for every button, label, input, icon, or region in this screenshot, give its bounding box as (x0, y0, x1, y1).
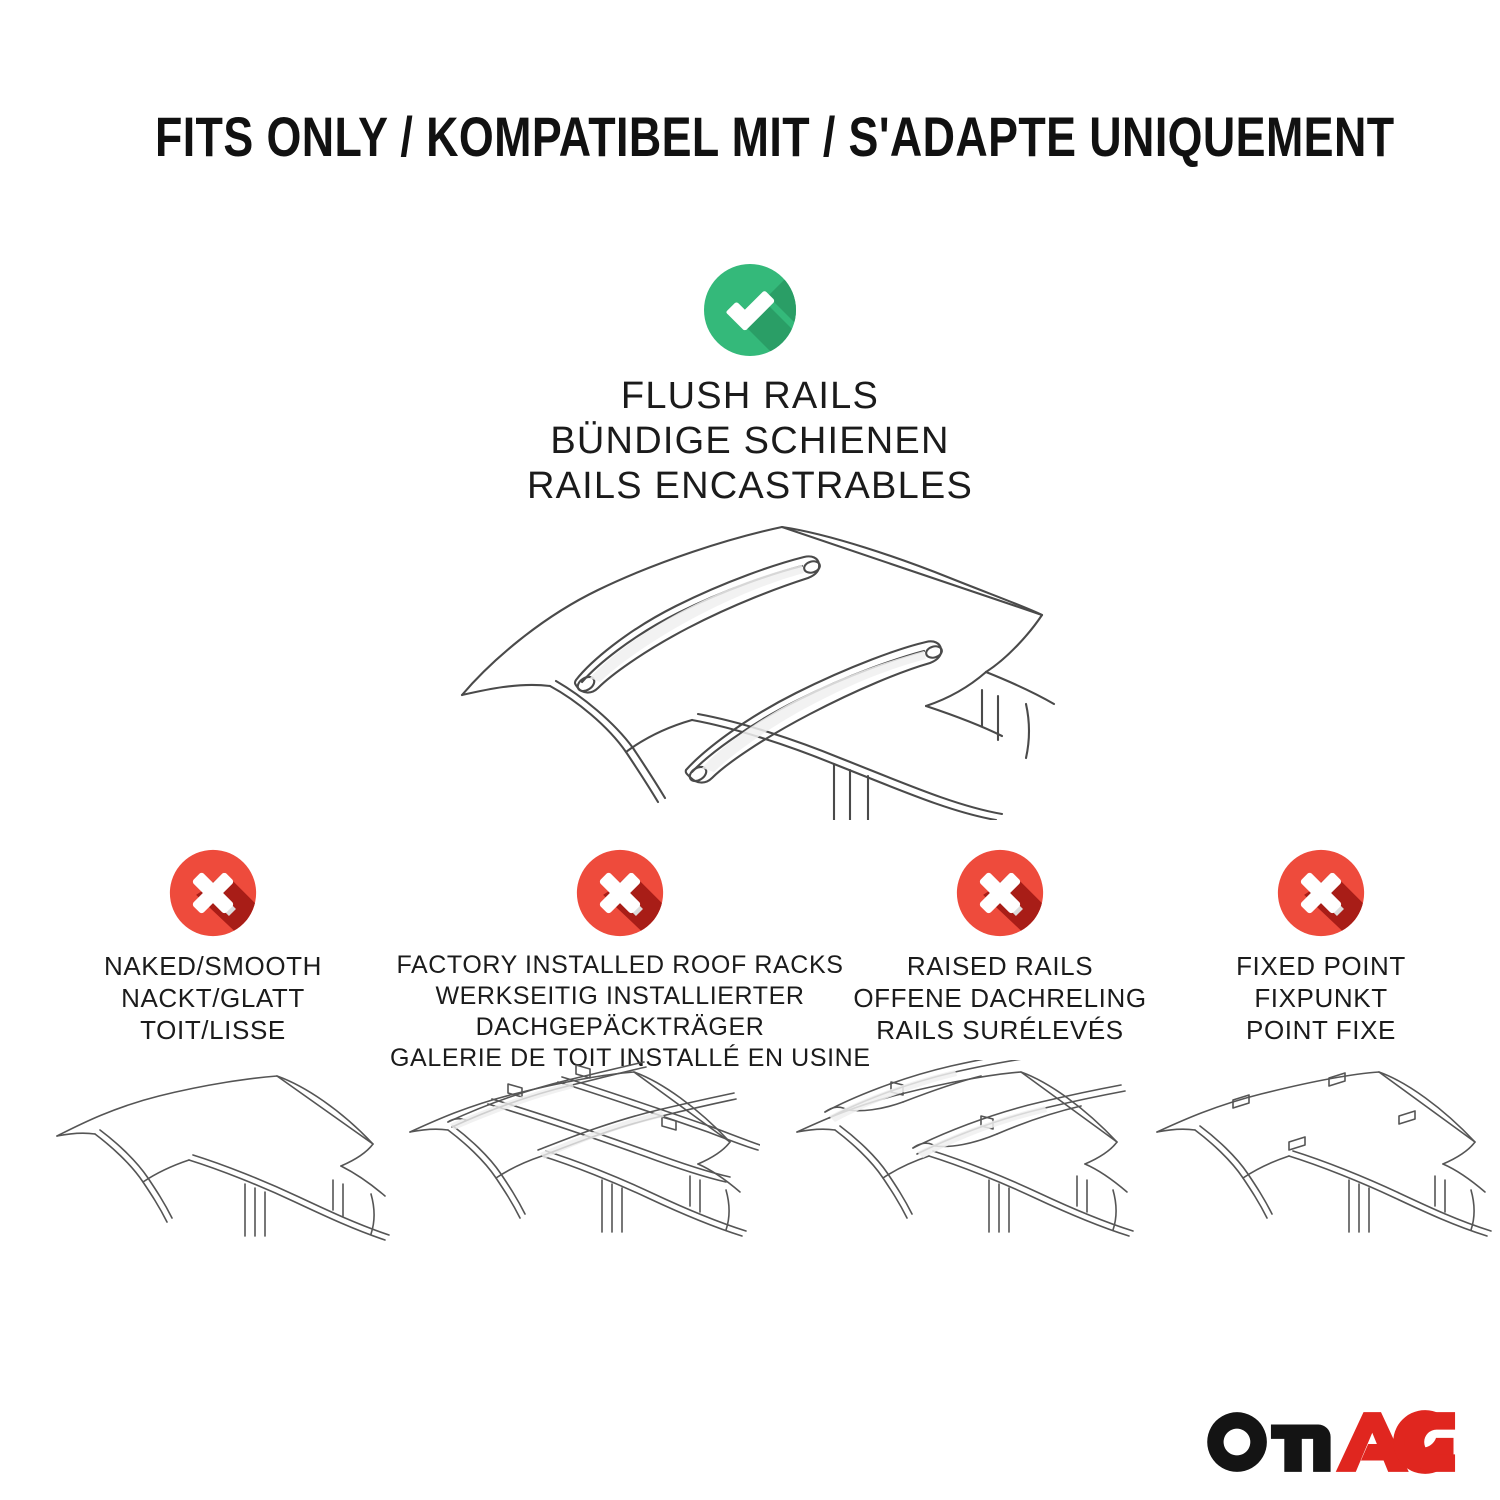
compatible-section: FLUSH RAILS BÜNDIGE SCHIENEN RAILS ENCAS… (0, 262, 1500, 508)
label-en: FACTORY INSTALLED ROOF RACKS (390, 950, 850, 981)
compatible-label-de: BÜNDIGE SCHIENEN (0, 419, 1500, 464)
label-de: OFFENE DACHRELING (838, 982, 1162, 1014)
incompatible-column-naked-smooth: NAKED/SMOOTH NACKT/GLATT TOIT/LISSE (38, 848, 388, 1047)
label-fr: RAILS SURÉLEVÉS (838, 1014, 1162, 1046)
column-labels: FACTORY INSTALLED ROOF RACKS WERKSEITIG … (390, 950, 850, 1074)
incompatible-column-fixed-point: FIXED POINT FIXPUNKT POINT FIXE (1166, 848, 1476, 1047)
car-roof-fixed-point-illustration (1155, 1060, 1500, 1315)
label-en: RAISED RAILS (838, 950, 1162, 982)
incompatible-column-factory-roof-racks: FACTORY INSTALLED ROOF RACKS WERKSEITIG … (390, 848, 850, 1074)
car-roof-raised-rails-illustration (795, 1060, 1147, 1315)
label-de: NACKT/GLATT (38, 982, 388, 1014)
label-fr: POINT FIXE (1166, 1014, 1476, 1046)
car-roof-flush-rails-illustration (430, 490, 1070, 820)
compatible-label-en: FLUSH RAILS (0, 374, 1500, 419)
incompatible-column-raised-rails: RAISED RAILS OFFENE DACHRELING RAILS SUR… (838, 848, 1162, 1047)
column-labels: RAISED RAILS OFFENE DACHRELING RAILS SUR… (838, 950, 1162, 1047)
car-roof-factory-roof-racks-illustration (408, 1060, 760, 1315)
label-de-1: WERKSEITIG INSTALLIERTER (390, 981, 850, 1012)
label-fr: TOIT/LISSE (38, 1014, 388, 1046)
compatible-labels: FLUSH RAILS BÜNDIGE SCHIENEN RAILS ENCAS… (0, 374, 1500, 508)
label-de: FIXPUNKT (1166, 982, 1476, 1014)
red-x-circle-icon (575, 848, 665, 938)
omac-logo (1201, 1406, 1458, 1478)
red-x-circle-icon (955, 848, 1045, 938)
incompatible-illustrations (0, 1060, 1500, 1320)
column-labels: NAKED/SMOOTH NACKT/GLATT TOIT/LISSE (38, 950, 388, 1047)
car-roof-naked-smooth-illustration (55, 1060, 400, 1315)
green-check-circle-icon (702, 262, 798, 358)
red-x-circle-icon (168, 848, 258, 938)
page-title: FITS ONLY / KOMPATIBEL MIT / S'ADAPTE UN… (155, 104, 1395, 169)
label-en: NAKED/SMOOTH (38, 950, 388, 982)
header: FITS ONLY / KOMPATIBEL MIT / S'ADAPTE UN… (0, 104, 1500, 169)
column-labels: FIXED POINT FIXPUNKT POINT FIXE (1166, 950, 1476, 1047)
label-en: FIXED POINT (1166, 950, 1476, 982)
label-de-2: DACHGEPÄCKTRÄGER (390, 1012, 850, 1043)
red-x-circle-icon (1276, 848, 1366, 938)
